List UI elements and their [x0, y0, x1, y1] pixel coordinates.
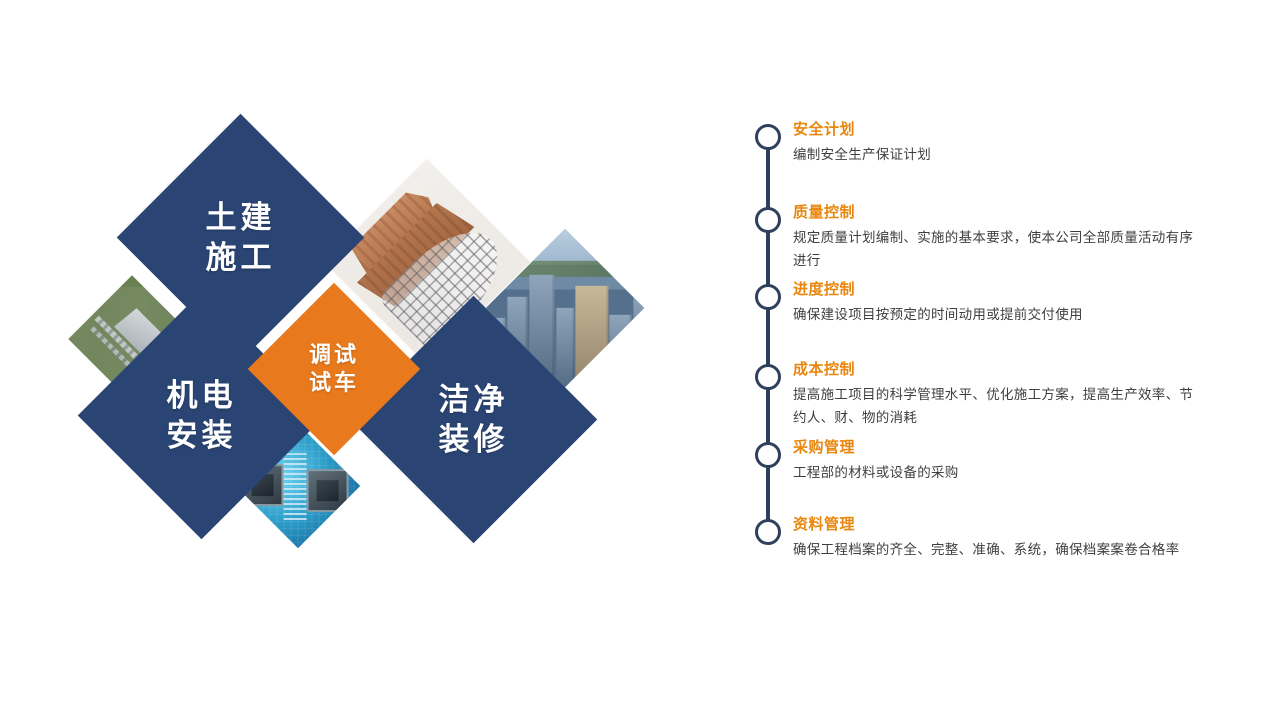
timeline-item-title: 资料管理: [793, 515, 1205, 535]
diamond-tile-cleanroom-line1: 洁净: [439, 380, 509, 420]
timeline-node-icon: [755, 124, 781, 150]
diamond-diagram: 土建 施工 机电 安装 洁净 装修 调试 试车: [0, 0, 700, 720]
timeline-item-title: 进度控制: [793, 280, 1205, 300]
timeline-item-desc: 提高施工项目的科学管理水平、优化施工方案，提高生产效率、节约人、财、物的消耗: [793, 383, 1205, 429]
timeline-item-desc: 规定质量计划编制、实施的基本要求，使本公司全部质量活动有序进行: [793, 226, 1205, 272]
timeline-node-icon: [755, 207, 781, 233]
diamond-tile-commissioning-line1: 调试: [309, 341, 359, 369]
timeline-node-icon: [755, 442, 781, 468]
diamond-tile-mep-line1: 机电: [167, 376, 237, 416]
diamond-tile-mep-line2: 安装: [167, 416, 237, 456]
timeline-item-desc: 工程部的材料或设备的采购: [793, 461, 1205, 484]
timeline-node-icon: [755, 364, 781, 390]
timeline-item-title: 采购管理: [793, 438, 1205, 458]
timeline-item-desc: 编制安全生产保证计划: [793, 143, 1205, 166]
timeline-connector-line: [766, 132, 770, 542]
timeline-item-title: 成本控制: [793, 360, 1205, 380]
diamond-tile-cleanroom-line2: 装修: [439, 420, 509, 460]
timeline-item-desc: 确保建设项目按预定的时间动用或提前交付使用: [793, 303, 1205, 326]
slide-canvas: 土建 施工 机电 安装 洁净 装修 调试 试车: [0, 0, 1280, 720]
timeline-item-title: 质量控制: [793, 203, 1205, 223]
diamond-tile-commissioning-line2: 试车: [309, 369, 359, 397]
management-timeline: 安全计划 编制安全生产保证计划 质量控制 规定质量计划编制、实施的基本要求，使本…: [745, 110, 1215, 590]
timeline-node-icon: [755, 284, 781, 310]
timeline-item-title: 安全计划: [793, 120, 1205, 140]
timeline-item-desc: 确保工程档案的齐全、完整、准确、系统，确保档案案卷合格率: [793, 538, 1205, 561]
diamond-tile-civil-line2: 施工: [206, 238, 276, 278]
timeline-node-icon: [755, 519, 781, 545]
diamond-tile-civil-line1: 土建: [206, 198, 276, 238]
